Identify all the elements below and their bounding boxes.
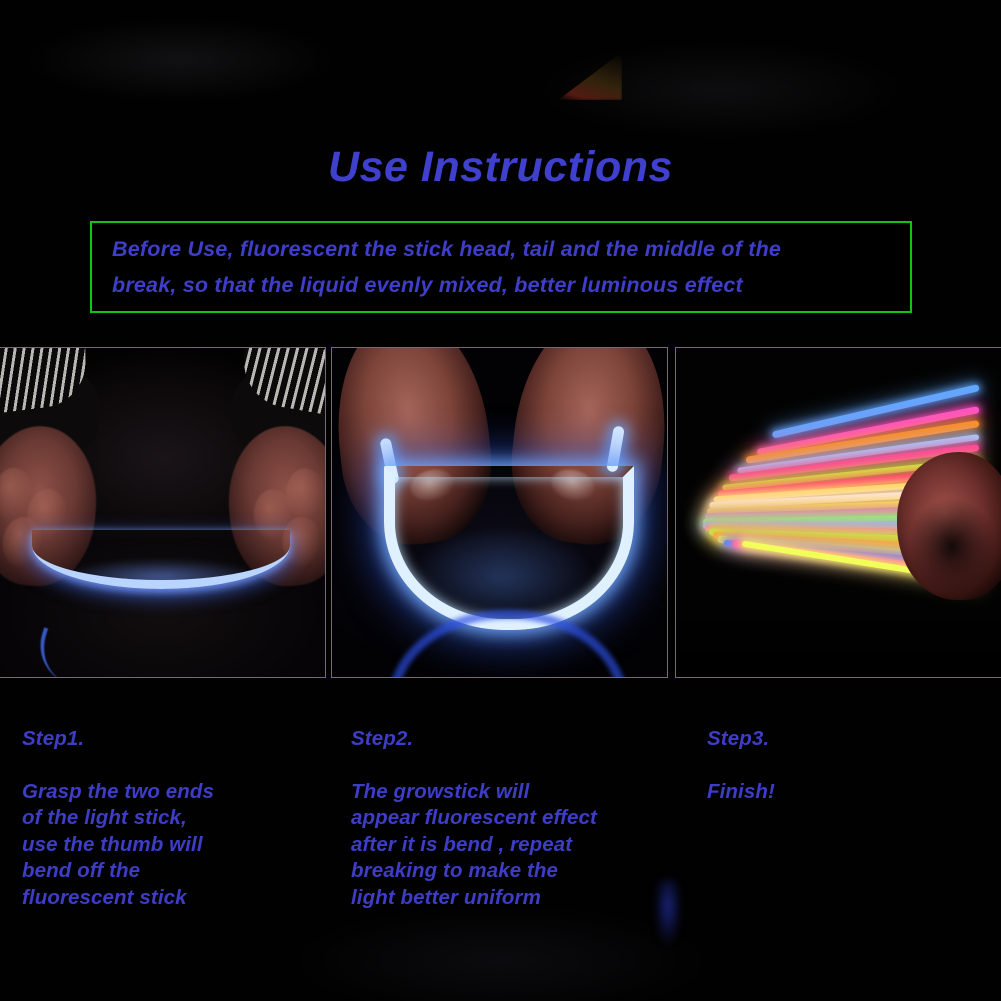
page-title: Use Instructions xyxy=(0,143,1001,192)
step-1-caption: Step1. Grasp the two ends of the light s… xyxy=(22,699,312,911)
top-light-artifact xyxy=(558,52,622,100)
photo-panel-step1 xyxy=(0,347,326,678)
step-3-caption: Step3. Finish! xyxy=(707,699,987,805)
step-2-caption: Step2. The growstick will appear fluores… xyxy=(351,699,663,911)
scene-glowstick-fan xyxy=(676,348,1001,677)
scene-hands-holding-stick xyxy=(0,348,325,677)
step-2-body: The growstick will appear fluorescent ef… xyxy=(351,780,597,909)
panel3-hand-shadow xyxy=(909,498,995,594)
instruction-poster: Use Instructions Before Use, fluorescent… xyxy=(0,0,1001,1001)
step-3-heading: Step3. xyxy=(707,727,769,750)
photo-panel-step2 xyxy=(331,347,668,678)
scene-bending-stick xyxy=(332,348,667,677)
step-1-body: Grasp the two ends of the light stick, u… xyxy=(22,780,214,909)
step-2-heading: Step2. xyxy=(351,727,413,750)
before-use-banner: Before Use, fluorescent the stick head, … xyxy=(90,221,912,313)
banner-line-1: Before Use, fluorescent the stick head, … xyxy=(112,231,902,267)
step-1-heading: Step1. xyxy=(22,727,84,750)
banner-line-2: break, so that the liquid evenly mixed, … xyxy=(112,267,902,303)
panel3-bottom-fade xyxy=(676,603,1001,677)
step-3-body: Finish! xyxy=(707,780,775,803)
photo-panel-row xyxy=(0,347,1001,678)
photo-panel-step3 xyxy=(675,347,1001,678)
